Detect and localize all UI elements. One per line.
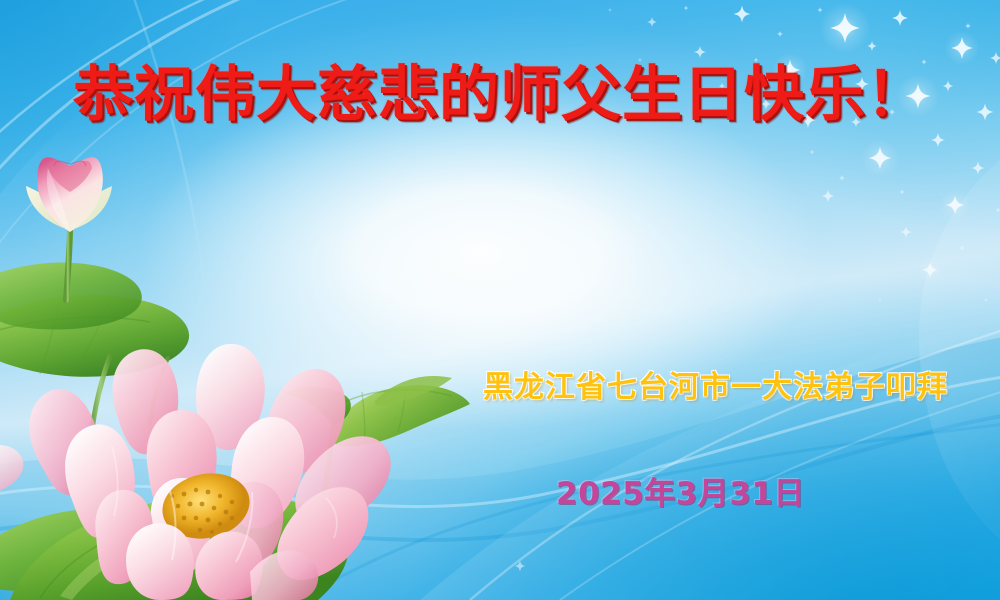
signature-line: 黑龙江省七台河市一大法弟子叩拜 xyxy=(483,362,948,406)
lotus-bud xyxy=(26,157,112,232)
greeting-card: 恭祝伟大慈悲的师父生日快乐！ 黑龙江省七台河市一大法弟子叩拜 2025年3月31… xyxy=(0,0,1000,600)
lotus-leaf-curled-center xyxy=(284,376,470,524)
lotus-stems xyxy=(92,356,168,430)
page-title: 恭祝伟大慈悲的师父生日快乐！ xyxy=(0,46,1000,133)
lotus-leaf-left-second xyxy=(0,263,142,330)
lotus-leaf-bottom-left xyxy=(0,494,348,600)
lotus-stem-bud xyxy=(66,226,70,300)
lotus-petal-accent-left xyxy=(0,445,23,495)
date-line: 2025年3月31日 xyxy=(556,468,805,513)
open-lotus-flower xyxy=(29,344,390,600)
lotus-leaf-upper-left xyxy=(0,295,189,377)
